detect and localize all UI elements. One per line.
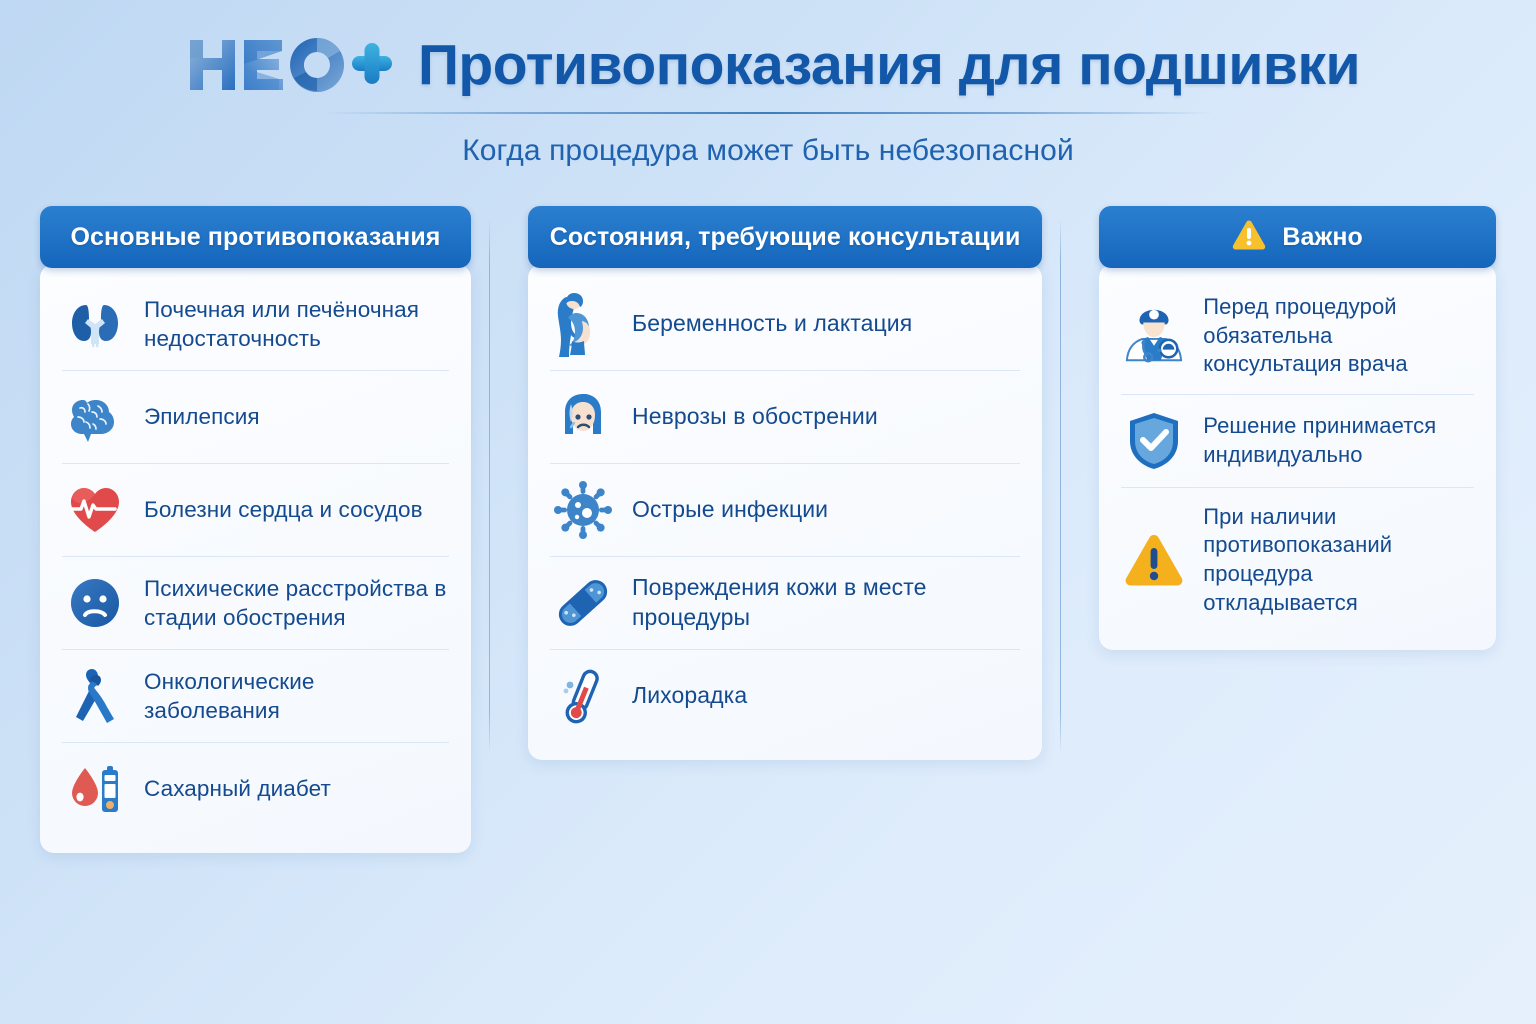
column-2-heading-label: Состояния, требующие консультации xyxy=(550,223,1021,252)
page-subtitle: Когда процедура может быть небезопасной xyxy=(0,134,1536,168)
column-important: Важно xyxy=(1099,206,1496,650)
column-3-header: Важно xyxy=(1099,206,1496,268)
list-item-label: Эпилепсия xyxy=(144,402,260,431)
list-item-label: Лихорадка xyxy=(632,681,747,711)
column-3-heading-label: Важно xyxy=(1282,223,1363,252)
list-item-label: Болезни сердца и сосудов xyxy=(144,495,423,524)
column-3-body: Перед процедурой обязательна консультаци… xyxy=(1099,264,1496,650)
distressed-woman-icon xyxy=(552,386,614,448)
awareness-ribbon-icon xyxy=(64,665,126,727)
bandage-icon xyxy=(552,572,614,634)
list-item[interactable]: Острые инфекции xyxy=(550,464,1020,557)
list-item[interactable]: Неврозы в обострении xyxy=(550,371,1020,464)
list-item[interactable]: Решение принимается индивидуально xyxy=(1121,395,1474,488)
column-main-contraindications: Основные противопоказания Почечная или п… xyxy=(40,206,471,853)
column-1-header: Основные противопоказания xyxy=(40,206,471,268)
heart-pulse-icon xyxy=(64,479,126,541)
list-item-label: Решение принимается индивидуально xyxy=(1203,412,1472,469)
column-divider-2 xyxy=(1060,218,1061,753)
list-item[interactable]: Психические расстройства в стадии обостр… xyxy=(62,557,449,650)
column-1-body: Почечная или печёночная недостаточность … xyxy=(40,264,471,853)
list-item[interactable]: Лихорадка xyxy=(550,650,1020,742)
blood-drop-glucometer-icon xyxy=(64,758,126,820)
list-item-label: Психические расстройства в стадии обостр… xyxy=(144,574,447,633)
list-item-label: Сахарный диабет xyxy=(144,774,331,803)
column-needs-consultation: Состояния, требующие консультации Береме… xyxy=(528,206,1042,760)
list-item[interactable]: Повреждения кожи в месте процедуры xyxy=(550,557,1020,650)
list-item[interactable]: Перед процедурой обязательна консультаци… xyxy=(1121,278,1474,395)
list-item[interactable]: Беременность и лактация xyxy=(550,278,1020,371)
list-item-label: Повреждения кожи в месте процедуры xyxy=(632,573,1018,633)
warning-triangle-icon xyxy=(1123,529,1185,591)
page-header: Противопоказания для подшивки Когда проц… xyxy=(0,0,1536,168)
list-item[interactable]: Болезни сердца и сосудов xyxy=(62,464,449,557)
thermometer-icon xyxy=(552,665,614,727)
list-item-label: Неврозы в обострении xyxy=(632,402,878,432)
list-item-label: Беременность и лактация xyxy=(632,309,912,339)
list-item-label: Почечная или печёночная недостаточность xyxy=(144,295,447,354)
list-item[interactable]: Эпилепсия xyxy=(62,371,449,464)
virus-icon xyxy=(552,479,614,541)
kidneys-icon xyxy=(64,293,126,355)
list-item[interactable]: При наличии противопоказаний процедура о… xyxy=(1121,488,1474,632)
pregnant-woman-icon xyxy=(552,293,614,355)
column-2-body: Беременность и лактация Неврозы в xyxy=(528,264,1042,760)
page-title: Противопоказания для подшивки xyxy=(418,37,1360,94)
column-divider-1 xyxy=(489,218,490,753)
sad-face-icon xyxy=(64,572,126,634)
list-item-label: Онкологические заболевания xyxy=(144,667,447,726)
title-row: Противопоказания для подшивки xyxy=(0,34,1536,96)
list-item[interactable]: Почечная или печёночная недостаточность xyxy=(62,278,449,371)
warning-triangle-icon xyxy=(1232,219,1266,255)
column-1-heading-label: Основные противопоказания xyxy=(71,223,441,252)
doctor-icon xyxy=(1123,305,1185,367)
title-divider xyxy=(323,112,1213,114)
list-item[interactable]: Онкологические заболевания xyxy=(62,650,449,743)
list-item[interactable]: Сахарный диабет xyxy=(62,743,449,835)
brain-icon xyxy=(64,386,126,448)
list-item-label: При наличии противопоказаний процедура о… xyxy=(1203,503,1472,617)
content-columns: Основные противопоказания Почечная или п… xyxy=(0,206,1536,853)
list-item-label: Перед процедурой обязательна консультаци… xyxy=(1203,293,1472,379)
neo-plus-logo xyxy=(186,34,396,96)
shield-check-icon xyxy=(1123,410,1185,472)
list-item-label: Острые инфекции xyxy=(632,495,828,525)
column-2-header: Состояния, требующие консультации xyxy=(528,206,1042,268)
